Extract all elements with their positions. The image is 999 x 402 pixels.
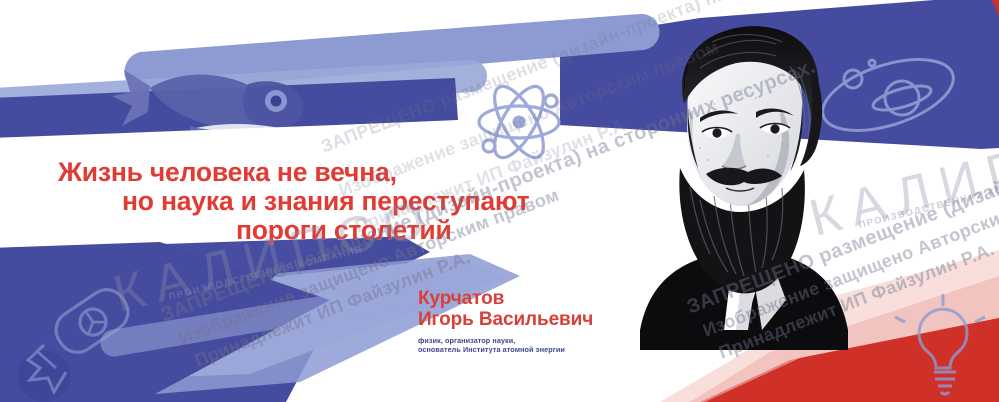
kurchatov-banner: Жизнь человека не вечна, но наука и знан… <box>0 0 999 402</box>
person-name-block: Курчатов Игорь Васильевич физик, организ… <box>418 289 593 354</box>
person-role-line-2: основатель Института атомной энергии <box>418 345 593 354</box>
person-firstname: Игорь Васильевич <box>418 309 593 330</box>
person-role: физик, организатор науки, основатель Инс… <box>418 336 593 354</box>
person-surname: Курчатов <box>418 289 593 309</box>
person-role-line-1: физик, организатор науки, <box>418 336 593 345</box>
